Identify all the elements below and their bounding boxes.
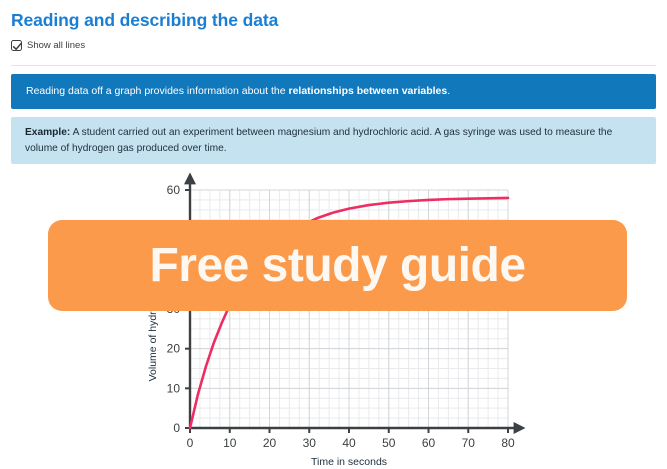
checkbox-checked-icon[interactable]: [11, 40, 22, 51]
example-text: Example: A student carried out an experi…: [25, 125, 642, 157]
info-banner-text-before: Reading data off a graph provides inform…: [26, 85, 289, 97]
svg-text:0: 0: [187, 436, 194, 450]
promo-banner-text: Free study guide: [149, 242, 525, 290]
svg-text:10: 10: [167, 381, 181, 395]
lesson-page: Reading and describing the data Show all…: [0, 0, 667, 469]
info-banner: Reading data off a graph provides inform…: [11, 74, 656, 109]
svg-text:20: 20: [263, 436, 277, 450]
show-all-lines-label: Show all lines: [27, 40, 85, 51]
svg-text:60: 60: [422, 436, 436, 450]
chart-svg: 010203040506070800102030405060Time in se…: [0, 168, 667, 469]
show-all-lines-toggle[interactable]: Show all lines: [11, 40, 85, 51]
info-banner-text-after: .: [447, 85, 450, 97]
svg-text:80: 80: [501, 436, 515, 450]
example-box: Example: A student carried out an experi…: [11, 117, 656, 164]
svg-text:40: 40: [342, 436, 356, 450]
svg-text:70: 70: [462, 436, 476, 450]
info-banner-text-bold: relationships between variables: [289, 85, 448, 97]
svg-text:30: 30: [303, 436, 317, 450]
promo-banner[interactable]: Free study guide: [48, 220, 627, 311]
example-label: Example:: [25, 127, 70, 138]
page-title: Reading and describing the data: [11, 10, 278, 31]
info-banner-text: Reading data off a graph provides inform…: [26, 85, 450, 99]
svg-text:60: 60: [167, 183, 181, 197]
svg-text:20: 20: [167, 342, 181, 356]
svg-text:10: 10: [223, 436, 237, 450]
example-body: A student carried out an experiment betw…: [25, 127, 612, 154]
chart: 010203040506070800102030405060Time in se…: [0, 168, 667, 469]
svg-text:50: 50: [382, 436, 396, 450]
divider: [11, 65, 656, 66]
svg-text:0: 0: [173, 421, 180, 435]
svg-text:Time in seconds: Time in seconds: [311, 456, 387, 468]
